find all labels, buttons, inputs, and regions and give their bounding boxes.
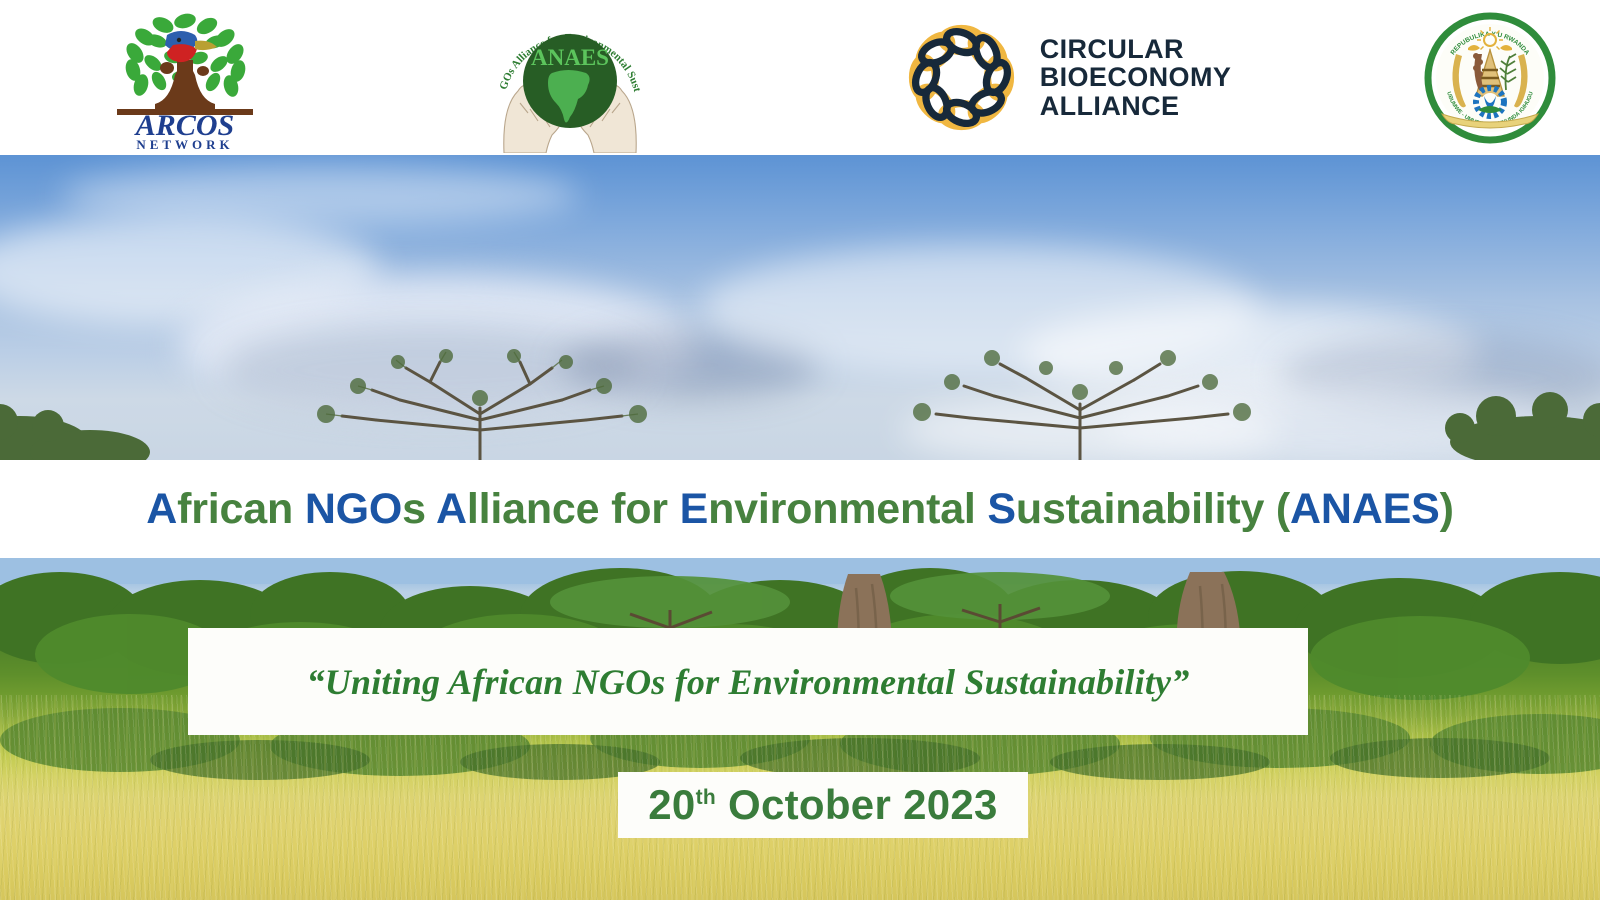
title-segment: A <box>146 485 177 533</box>
tagline-box: “Uniting African NGOs for Environmental … <box>188 628 1308 735</box>
title-segment: ANAES <box>1290 485 1440 533</box>
title-band: African NGOs Alliance for Environmental … <box>0 460 1600 558</box>
sky-photo <box>0 155 1600 460</box>
anaes-center-text: ANAES <box>531 45 609 70</box>
event-banner: ARCOS NETWORK African NGOs Alliance for … <box>0 0 1600 900</box>
circular-bioeconomy-alliance-logo: CIRCULAR BIOECONOMY ALLIANCE <box>865 3 1265 153</box>
tagline-text: “Uniting African NGOs for Environmental … <box>307 661 1190 703</box>
title-segment: nvironmental <box>708 485 987 533</box>
arcos-tree-icon: ARCOS NETWORK <box>95 5 275 150</box>
date-month-year: October 2023 <box>716 781 998 828</box>
title-segment: lliance for <box>467 485 680 533</box>
baobab-canopy-icon <box>880 334 1280 460</box>
logo-bar: ARCOS NETWORK African NGOs Alliance for … <box>0 0 1600 155</box>
title-segment: ustainability <box>1016 485 1276 533</box>
anaes-logo: African NGOs Alliance for Environmental … <box>445 3 695 153</box>
title-segment: S <box>987 485 1015 533</box>
republic-of-rwanda-coat-of-arms: REPUBULIKA Y'U RWANDA UBUMWE - UMURIMO -… <box>1400 3 1580 153</box>
arcos-network-wordmark: NETWORK <box>136 137 233 150</box>
cba-ring-icon <box>899 15 1024 140</box>
title-segment: s <box>402 485 436 533</box>
baobab-canopy-icon <box>280 334 680 460</box>
event-date: 20th October 2023 <box>648 781 997 829</box>
arcos-network-logo: ARCOS NETWORK <box>20 3 350 153</box>
shrub-canopy-icon <box>1400 364 1600 460</box>
cba-wordmark-line-3: ALLIANCE <box>1040 92 1232 120</box>
title-segment: A <box>436 485 467 533</box>
shrub-canopy-icon <box>0 374 200 460</box>
cba-wordmark: CIRCULAR BIOECONOMY ALLIANCE <box>1040 35 1232 119</box>
title-segment: ( <box>1276 485 1290 533</box>
cba-wordmark-line-2: BIOECONOMY <box>1040 63 1232 91</box>
date-box: 20th October 2023 <box>618 772 1028 838</box>
title-segment: E <box>680 485 708 533</box>
anaes-globe-hands-icon: African NGOs Alliance for Environmental … <box>490 3 650 153</box>
date-ordinal-suffix: th <box>696 786 716 809</box>
rwanda-emblem-icon: REPUBULIKA Y'U RWANDA UBUMWE - UMURIMO -… <box>1420 8 1560 148</box>
title-segment: ) <box>1440 485 1454 533</box>
title-segment: NGO <box>305 485 402 533</box>
cba-wordmark-line-1: CIRCULAR <box>1040 35 1232 63</box>
title-segment: frican <box>177 485 305 533</box>
date-day: 20 <box>648 781 695 828</box>
page-title: African NGOs Alliance for Environmental … <box>146 485 1453 534</box>
